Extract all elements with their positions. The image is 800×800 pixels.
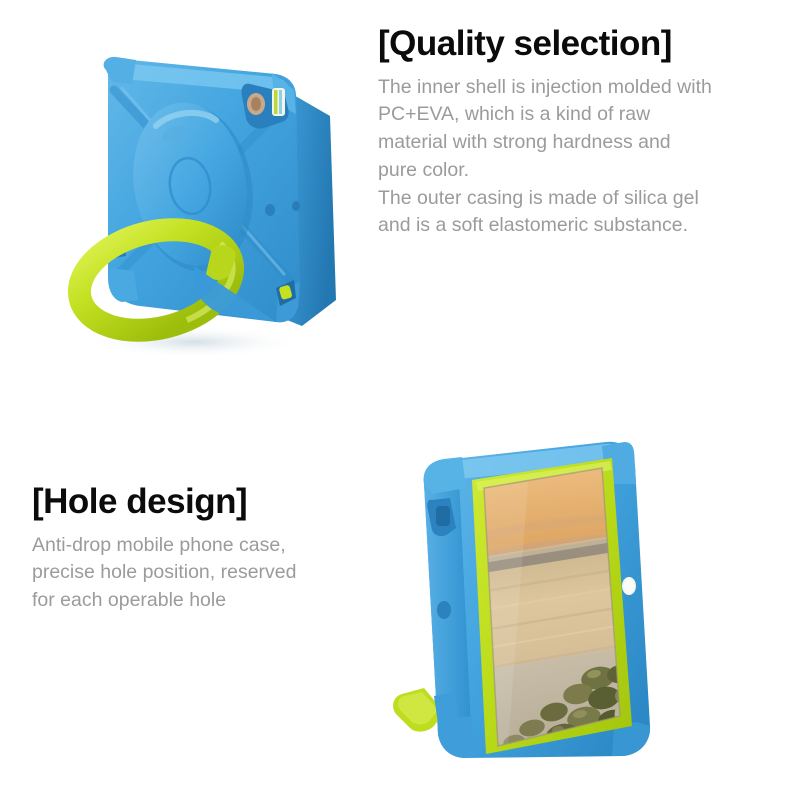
quality-body-line: pure color. [378, 157, 778, 185]
kickstand-hinge [434, 692, 458, 724]
hole-body-line: for each operable hole [32, 587, 372, 615]
camera-cutout [241, 84, 288, 129]
camera-flash [272, 88, 285, 116]
section-quality-selection: [Quality selection] The inner shell is i… [378, 26, 778, 240]
product-feature-page: [Quality selection] The inner shell is i… [0, 0, 800, 800]
hole-body: Anti-drop mobile phone case, precise hol… [32, 532, 372, 615]
tablet-case-front-view [388, 440, 688, 760]
quality-body-line: material with strong hardness and [378, 129, 778, 157]
quality-body-line: PC+EVA, which is a kind of raw [378, 101, 778, 129]
tablet-case-back-view [44, 30, 364, 360]
left-button-hole [437, 601, 451, 619]
hole-heading: [Hole design] [32, 484, 372, 521]
hole-body-line: precise hole position, reserved [32, 559, 372, 587]
quality-body-line: The inner shell is injection molded with [378, 74, 778, 102]
corner-bumper-bottom-left [108, 268, 138, 302]
quality-body-line: The outer casing is made of silica gel [378, 185, 778, 213]
quality-heading: [Quality selection] [378, 26, 778, 63]
corner-bumper-top-left [424, 457, 466, 494]
hole-body-line: Anti-drop mobile phone case, [32, 532, 372, 560]
quality-body: The inner shell is injection molded with… [378, 74, 778, 240]
section-hole-design: [Hole design] Anti-drop mobile phone cas… [32, 484, 372, 615]
quality-body-line: and is a soft elastomeric substance. [378, 212, 778, 240]
